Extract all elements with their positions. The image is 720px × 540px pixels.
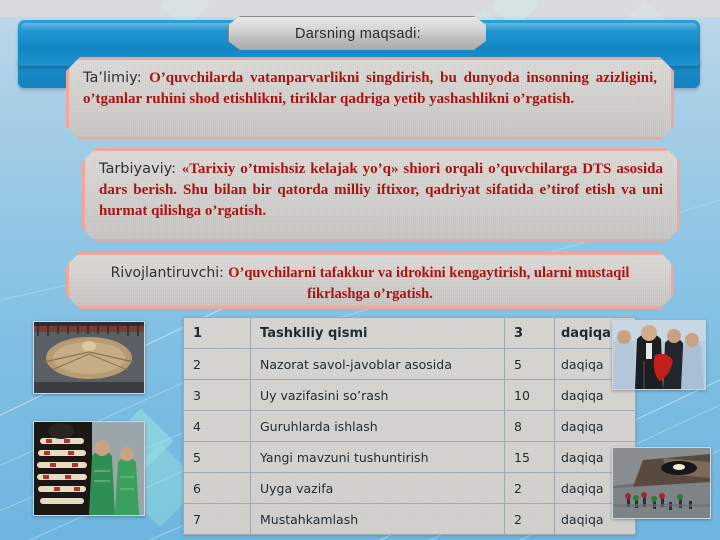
photo-memorial-flame [612,447,711,519]
row-minutes: 15 [505,442,555,473]
table-row: 6 Uyga vazifa 2 daqiqa [184,473,636,504]
objective-box-upbringing: Tarbiyaviy: «Tarixiy o’tmishsiz kelajak … [82,148,680,242]
row-number: 4 [184,411,251,442]
row-minutes: 8 [505,411,555,442]
photo-group-ceremony [612,320,706,390]
row-number: 7 [184,504,251,535]
objective-label-upbringing: Tarbiyaviy: [99,161,176,177]
table-row: 5 Yangi mavzuni tushuntirish 15 daqiqa [184,442,636,473]
row-task: Uy vazifasini so’rash [251,380,505,411]
table-row: 4 Guruhlarda ishlash 8 daqiqa [184,411,636,442]
objective-text-upbringing: «Tarixiy o’tmishsiz kelajak yo’q» shiori… [99,161,663,219]
objective-box-educational: Ta’limiy: O’quvchilarda vatanparvarlikni… [66,57,674,140]
page-title-text: Darsning maqsadi: [295,26,421,42]
row-task: Nazorat savol-javoblar asosida [251,349,505,380]
row-minutes: 10 [505,380,555,411]
photo-women-traditional [33,421,145,516]
row-unit: daqiqa [555,411,636,442]
objective-text-developmental: O’quvchilarni tafakkur va idrokini kenga… [228,265,629,302]
table-row: 7 Mustahkamlash 2 daqiqa [184,504,636,535]
row-minutes: 2 [505,473,555,504]
row-task: Yangi mavzuni tushuntirish [251,442,505,473]
lesson-plan-table: 1 Tashkiliy qismi 3 daqiqa 2 Nazorat sav… [183,317,636,535]
photo-monument-aerial [33,321,145,394]
table-row: 3 Uy vazifasini so’rash 10 daqiqa [184,380,636,411]
row-minutes: 3 [505,318,555,349]
row-minutes: 2 [505,504,555,535]
objective-label-developmental: Rivojlantiruvchi: [111,265,224,281]
row-number: 6 [184,473,251,504]
row-number: 3 [184,380,251,411]
objective-label-educational: Ta’limiy: [83,70,142,86]
objective-text-educational: O’quvchilarda vatanparvarlikni singdiris… [83,70,657,107]
objective-box-developmental: Rivojlantiruvchi: O’quvchilarni tafakkur… [66,252,674,309]
row-task: Mustahkamlash [251,504,505,535]
row-minutes: 5 [505,349,555,380]
row-number: 1 [184,318,251,349]
page-title: Darsning maqsadi: [228,16,488,52]
row-number: 5 [184,442,251,473]
table-row: 1 Tashkiliy qismi 3 daqiqa [184,318,636,349]
row-task: Uyga vazifa [251,473,505,504]
row-number: 2 [184,349,251,380]
table-row: 2 Nazorat savol-javoblar asosida 5 daqiq… [184,349,636,380]
row-task: Tashkiliy qismi [251,318,505,349]
slide-canvas: Darsning maqsadi: Ta’limiy: O’quvchilard… [0,0,720,540]
lesson-plan-table-body: 1 Tashkiliy qismi 3 daqiqa 2 Nazorat sav… [184,318,636,535]
row-task: Guruhlarda ishlash [251,411,505,442]
